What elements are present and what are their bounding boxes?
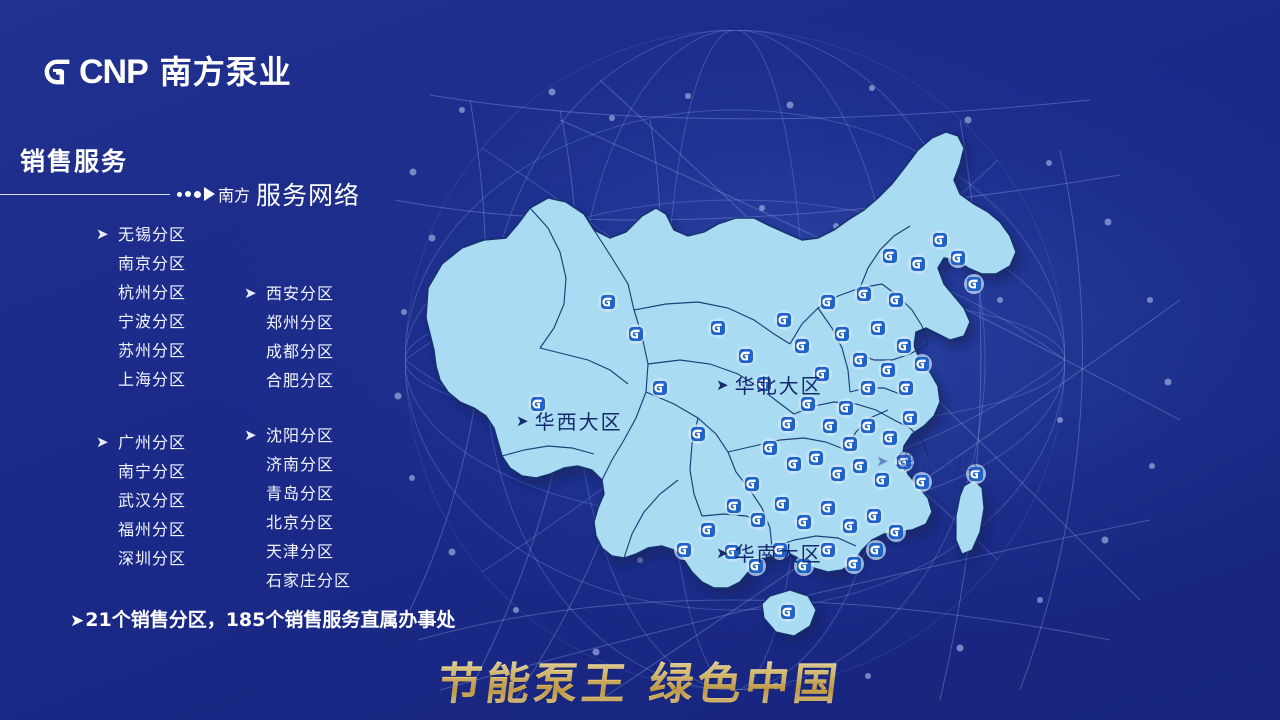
subtitle-prefix: 南方: [218, 182, 250, 206]
map-region-label-east: ➤ 华东大区: [876, 446, 983, 475]
branch-label: 西安分区: [266, 284, 334, 303]
page-title: 销售服务: [20, 142, 128, 178]
logo-chinese-text: 南方泵业: [160, 56, 292, 88]
branch-list-west: ➤西安分区 ➤郑州分区 ➤成都分区 ➤合肥分区: [244, 279, 334, 395]
branch-label: 武汉分区: [118, 491, 186, 510]
list-item[interactable]: ➤郑州分区: [244, 308, 334, 337]
map-region-label-south: ➤ 华南大区: [716, 538, 823, 567]
branch-label: 深圳分区: [118, 549, 186, 568]
branch-label: 成都分区: [266, 342, 334, 361]
region-label-text: 华北大区: [735, 370, 823, 399]
china-service-map[interactable]: ➤ 华北大区 ➤ 华西大区 ➤ 华南大区 ➤ 华东大区: [398, 88, 1068, 658]
arrow-bullet-icon: ➤: [716, 544, 731, 562]
arrow-bullet-icon: ➤: [70, 611, 84, 631]
arrow-bullet-icon: ➤: [244, 279, 260, 308]
list-item[interactable]: ➤合肥分区: [244, 366, 334, 395]
list-item[interactable]: ➤广州分区: [96, 428, 186, 457]
branch-label: 杭州分区: [118, 283, 186, 302]
list-item[interactable]: ➤南宁分区: [96, 457, 186, 486]
list-item[interactable]: ➤武汉分区: [96, 486, 186, 515]
slide-canvas: CNP 南方泵业 销售服务 南方 服务网络 ➤无锡分区 ➤南京分区 ➤杭州分区 …: [0, 0, 1280, 720]
region-label-text: 华西大区: [535, 406, 623, 435]
branch-label: 广州分区: [118, 433, 186, 452]
map-region-label-west: ➤ 华西大区: [516, 406, 623, 435]
cnp-p-mark-icon: [42, 57, 72, 87]
list-item[interactable]: ➤济南分区: [244, 450, 351, 479]
region-label-text: 华东大区: [895, 446, 983, 475]
arrow-bullet-icon: ➤: [244, 421, 260, 450]
branch-label: 合肥分区: [266, 371, 334, 390]
branch-label: 青岛分区: [266, 484, 334, 503]
brand-logo: CNP 南方泵业: [42, 55, 292, 89]
branch-label: 南京分区: [118, 254, 186, 273]
branch-label: 北京分区: [266, 513, 334, 532]
subtitle-main: 服务网络: [256, 176, 360, 212]
list-item[interactable]: ➤宁波分区: [96, 307, 186, 336]
branch-list-east: ➤无锡分区 ➤南京分区 ➤杭州分区 ➤宁波分区 ➤苏州分区 ➤上海分区: [96, 220, 186, 394]
branch-label: 南宁分区: [118, 462, 186, 481]
map-region-label-north: ➤ 华北大区: [716, 370, 823, 399]
list-item[interactable]: ➤无锡分区: [96, 220, 186, 249]
triangle-arrow-icon: [204, 187, 215, 201]
arrow-bullet-icon: ➤: [96, 428, 112, 457]
taiwan-island: [956, 480, 984, 554]
branch-label: 济南分区: [266, 455, 334, 474]
branch-label: 沈阳分区: [266, 426, 334, 445]
list-item[interactable]: ➤上海分区: [96, 365, 186, 394]
branch-list-north: ➤沈阳分区 ➤济南分区 ➤青岛分区 ➤北京分区 ➤天津分区 ➤石家庄分区: [244, 421, 351, 595]
branch-label: 上海分区: [118, 370, 186, 389]
list-item[interactable]: ➤石家庄分区: [244, 566, 351, 595]
branch-label: 无锡分区: [118, 225, 186, 244]
three-dots-icon: [177, 191, 201, 198]
branch-list-south: ➤广州分区 ➤南宁分区 ➤武汉分区 ➤福州分区 ➤深圳分区: [96, 428, 186, 573]
branch-label: 宁波分区: [118, 312, 186, 331]
branch-label: 苏州分区: [118, 341, 186, 360]
subtitle-row: 南方 服务网络: [0, 176, 360, 212]
list-item[interactable]: ➤杭州分区: [96, 278, 186, 307]
logo-latin-text: CNP: [79, 55, 148, 89]
list-item[interactable]: ➤天津分区: [244, 537, 351, 566]
list-item[interactable]: ➤福州分区: [96, 515, 186, 544]
list-item[interactable]: ➤沈阳分区: [244, 421, 351, 450]
branch-label: 天津分区: [266, 542, 334, 561]
list-item[interactable]: ➤南京分区: [96, 249, 186, 278]
arrow-bullet-icon: ➤: [96, 220, 112, 249]
branch-label: 郑州分区: [266, 313, 334, 332]
list-item[interactable]: ➤深圳分区: [96, 544, 186, 573]
arrow-bullet-icon: ➤: [716, 376, 731, 394]
branch-label: 福州分区: [118, 520, 186, 539]
list-item[interactable]: ➤苏州分区: [96, 336, 186, 365]
divider-line: [0, 194, 170, 195]
list-item[interactable]: ➤西安分区: [244, 279, 334, 308]
arrow-bullet-icon: ➤: [516, 412, 531, 430]
branch-label: 石家庄分区: [266, 571, 351, 590]
list-item[interactable]: ➤北京分区: [244, 508, 351, 537]
list-item[interactable]: ➤青岛分区: [244, 479, 351, 508]
list-item[interactable]: ➤成都分区: [244, 337, 334, 366]
region-label-text: 华南大区: [735, 538, 823, 567]
arrow-bullet-icon: ➤: [876, 452, 891, 470]
